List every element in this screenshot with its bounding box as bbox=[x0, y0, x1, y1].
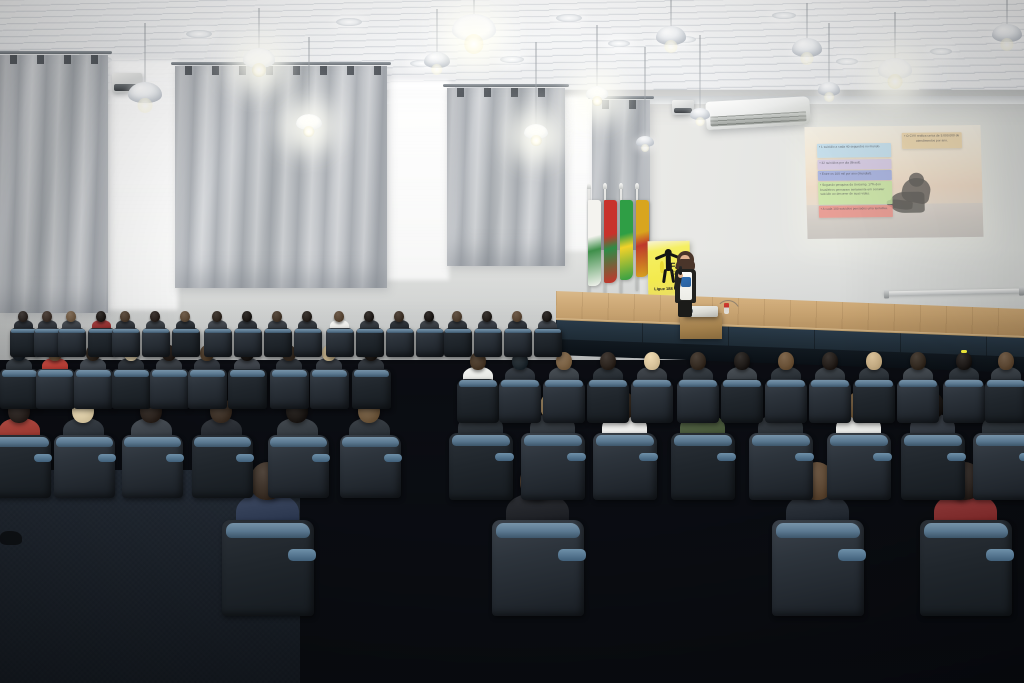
auditorium-seat[interactable] bbox=[749, 433, 813, 500]
seat-armrest[interactable] bbox=[166, 454, 184, 462]
seat-headrest-trim bbox=[633, 380, 672, 387]
auditorium-seat[interactable] bbox=[142, 328, 170, 357]
auditorium-seat[interactable] bbox=[340, 435, 401, 498]
seat-headrest-trim bbox=[190, 370, 226, 376]
auditorium-seat[interactable] bbox=[593, 433, 657, 500]
seat-headrest-trim bbox=[679, 380, 718, 387]
auditorium-seat[interactable] bbox=[204, 328, 232, 357]
seat-headrest-trim bbox=[230, 370, 266, 376]
auditorium-seat[interactable] bbox=[74, 369, 113, 409]
auditorium-seat[interactable] bbox=[222, 520, 314, 616]
audience-head bbox=[644, 352, 660, 370]
seat-armrest[interactable] bbox=[495, 453, 514, 461]
seat-headrest-trim bbox=[501, 380, 540, 387]
auditorium-seat[interactable] bbox=[897, 379, 939, 423]
auditorium-seat[interactable] bbox=[677, 379, 719, 423]
auditorium-seat[interactable] bbox=[294, 328, 322, 357]
seat-headrest-trim bbox=[59, 329, 85, 334]
seat-headrest-trim bbox=[535, 329, 561, 334]
auditorium-seat[interactable] bbox=[36, 369, 75, 409]
audience-head bbox=[302, 311, 312, 322]
seat-headrest-trim bbox=[173, 329, 199, 334]
seat-armrest[interactable] bbox=[312, 454, 330, 462]
seat-headrest-trim bbox=[2, 370, 38, 376]
auditorium-seat[interactable] bbox=[449, 433, 513, 500]
audience-head bbox=[150, 311, 160, 322]
seat-headrest-trim bbox=[524, 435, 583, 446]
seat-headrest-trim bbox=[545, 380, 584, 387]
seat-headrest-trim bbox=[152, 370, 188, 376]
seat-headrest-trim bbox=[445, 329, 471, 334]
auditorium-seat[interactable] bbox=[228, 369, 267, 409]
auditorium-seat[interactable] bbox=[985, 379, 1024, 423]
seat-headrest-trim bbox=[295, 329, 321, 334]
auditorium-seat[interactable] bbox=[721, 379, 763, 423]
seat-headrest-trim bbox=[830, 435, 889, 446]
seat-armrest[interactable] bbox=[986, 549, 1014, 561]
auditorium-seat[interactable] bbox=[853, 379, 895, 423]
seat-headrest-trim bbox=[354, 370, 390, 376]
auditorium-seat[interactable] bbox=[920, 520, 1012, 616]
auditorium-seat[interactable] bbox=[310, 369, 349, 409]
audience-head bbox=[364, 311, 374, 322]
seat-headrest-trim bbox=[945, 380, 984, 387]
audience-head bbox=[424, 311, 434, 322]
seat-headrest-trim bbox=[674, 435, 733, 446]
seat-armrest[interactable] bbox=[1019, 453, 1024, 461]
audience-head bbox=[452, 311, 462, 322]
seat-headrest-trim bbox=[76, 370, 112, 376]
auditorium-seat[interactable] bbox=[0, 435, 51, 498]
seat-headrest-trim bbox=[235, 329, 261, 334]
auditorium-seat[interactable] bbox=[901, 433, 965, 500]
seat-headrest-trim bbox=[89, 329, 115, 334]
auditorium-seat[interactable] bbox=[587, 379, 629, 423]
audience-head bbox=[120, 311, 130, 322]
auditorium-seat[interactable] bbox=[474, 328, 502, 357]
seat-armrest[interactable] bbox=[795, 453, 814, 461]
seat-headrest-trim bbox=[899, 380, 938, 387]
audience-head bbox=[910, 352, 926, 370]
auditorium-seat[interactable] bbox=[504, 328, 532, 357]
seat-headrest-trim bbox=[312, 370, 348, 376]
seat-headrest-trim bbox=[904, 435, 963, 446]
auditorium-seat[interactable] bbox=[416, 328, 444, 357]
auditorium-seat[interactable] bbox=[457, 379, 499, 423]
audience-head bbox=[482, 311, 492, 322]
auditorium-scene: • 1 suicídio a cada 40 segundos no mundo… bbox=[0, 0, 1024, 683]
seat-headrest-trim bbox=[811, 380, 850, 387]
auditorium-seat[interactable] bbox=[0, 369, 39, 409]
auditorium-seat[interactable] bbox=[772, 520, 864, 616]
auditorium-seat[interactable] bbox=[172, 328, 200, 357]
seat-armrest[interactable] bbox=[384, 454, 402, 462]
seat-armrest[interactable] bbox=[717, 453, 736, 461]
seat-armrest[interactable] bbox=[558, 549, 586, 561]
seat-headrest-trim bbox=[459, 380, 498, 387]
auditorium-seat[interactable] bbox=[326, 328, 354, 357]
auditorium-seat[interactable] bbox=[352, 369, 391, 409]
auditorium-seat[interactable] bbox=[444, 328, 472, 357]
seat-headrest-trim bbox=[194, 437, 250, 447]
seat-headrest-trim bbox=[56, 437, 112, 447]
seat-headrest-trim bbox=[113, 329, 139, 334]
auditorium-seat[interactable] bbox=[270, 369, 309, 409]
seat-headrest-trim bbox=[265, 329, 291, 334]
seat-headrest-trim bbox=[226, 523, 311, 538]
seat-headrest-trim bbox=[387, 329, 413, 334]
seat-headrest-trim bbox=[505, 329, 531, 334]
seat-headrest-trim bbox=[475, 329, 501, 334]
audience-head bbox=[272, 311, 282, 322]
auditorium-seat[interactable] bbox=[122, 435, 183, 498]
auditorium-seat[interactable] bbox=[188, 369, 227, 409]
auditorium-seat[interactable] bbox=[268, 435, 329, 498]
auditorium-seat[interactable] bbox=[264, 328, 292, 357]
audience-head bbox=[822, 352, 838, 370]
seat-headrest-trim bbox=[124, 437, 180, 447]
seat-headrest-trim bbox=[270, 437, 326, 447]
seat-headrest-trim bbox=[987, 380, 1024, 387]
seat-headrest-trim bbox=[272, 370, 308, 376]
audience-head bbox=[690, 352, 706, 370]
auditorium-seat[interactable] bbox=[973, 433, 1024, 500]
seat-headrest-trim bbox=[357, 329, 383, 334]
audience-head bbox=[542, 311, 552, 322]
auditorium-seat[interactable] bbox=[386, 328, 414, 357]
seat-armrest[interactable] bbox=[236, 454, 254, 462]
auditorium-seat[interactable] bbox=[150, 369, 189, 409]
seat-headrest-trim bbox=[855, 380, 894, 387]
audience-head bbox=[18, 311, 28, 322]
seat-headrest-trim bbox=[327, 329, 353, 334]
audience-head bbox=[866, 352, 882, 370]
auditorium-seat[interactable] bbox=[192, 435, 253, 498]
audience-head bbox=[512, 311, 522, 322]
seat-headrest-trim bbox=[0, 437, 49, 447]
audience-head bbox=[956, 352, 972, 370]
auditorium-seat[interactable] bbox=[765, 379, 807, 423]
auditorium-seat[interactable] bbox=[521, 433, 585, 500]
auditorium-seat[interactable] bbox=[534, 328, 562, 357]
seat-headrest-trim bbox=[35, 329, 61, 334]
seat-headrest-trim bbox=[496, 523, 581, 538]
seat-headrest-trim bbox=[452, 435, 511, 446]
auditorium-seat[interactable] bbox=[631, 379, 673, 423]
seat-headrest-trim bbox=[924, 523, 1009, 538]
seat-headrest-trim bbox=[767, 380, 806, 387]
seat-headrest-trim bbox=[976, 435, 1024, 446]
seat-armrest[interactable] bbox=[873, 453, 892, 461]
seat-headrest-trim bbox=[38, 370, 74, 376]
auditorium-seat[interactable] bbox=[543, 379, 585, 423]
audience-head bbox=[734, 352, 750, 370]
audience-head bbox=[42, 311, 52, 322]
seat-headrest-trim bbox=[114, 370, 150, 376]
seat-headrest-trim bbox=[596, 435, 655, 446]
seat-armrest[interactable] bbox=[567, 453, 586, 461]
auditorium-seat[interactable] bbox=[54, 435, 115, 498]
seat-armrest[interactable] bbox=[838, 549, 866, 561]
seat-armrest[interactable] bbox=[947, 453, 966, 461]
seat-headrest-trim bbox=[11, 329, 37, 334]
seat-armrest[interactable] bbox=[639, 453, 658, 461]
auditorium-seat[interactable] bbox=[827, 433, 891, 500]
audience-head bbox=[242, 311, 252, 322]
seat-headrest-trim bbox=[205, 329, 231, 334]
auditorium-seat[interactable] bbox=[112, 369, 151, 409]
audience-head bbox=[66, 311, 76, 322]
auditorium-seat[interactable] bbox=[58, 328, 86, 357]
seat-headrest-trim bbox=[589, 380, 628, 387]
auditorium-seat[interactable] bbox=[234, 328, 262, 357]
auditorium-seat[interactable] bbox=[943, 379, 985, 423]
seat-headrest-trim bbox=[752, 435, 811, 446]
seat-armrest[interactable] bbox=[34, 454, 52, 462]
auditorium-seat[interactable] bbox=[499, 379, 541, 423]
audience-head bbox=[180, 311, 190, 322]
yellow-hair-ribbon bbox=[961, 350, 967, 353]
auditorium-seat[interactable] bbox=[492, 520, 584, 616]
auditorium-seat[interactable] bbox=[671, 433, 735, 500]
auditorium-seat[interactable] bbox=[809, 379, 851, 423]
seat-headrest-trim bbox=[417, 329, 443, 334]
auditorium-seat[interactable] bbox=[356, 328, 384, 357]
audience-head bbox=[998, 352, 1014, 370]
seat-armrest[interactable] bbox=[98, 454, 116, 462]
seat-headrest-trim bbox=[342, 437, 398, 447]
audience-head bbox=[212, 311, 222, 322]
shoe bbox=[0, 531, 22, 545]
seat-armrest[interactable] bbox=[288, 549, 316, 561]
seat-headrest-trim bbox=[723, 380, 762, 387]
auditorium-seat[interactable] bbox=[112, 328, 140, 357]
audience-head bbox=[334, 311, 344, 322]
audience-head bbox=[96, 311, 106, 322]
seat-headrest-trim bbox=[776, 523, 861, 538]
seat-headrest-trim bbox=[143, 329, 169, 334]
audience-head bbox=[600, 352, 616, 370]
audience-head bbox=[394, 311, 404, 322]
audience-head bbox=[778, 352, 794, 370]
